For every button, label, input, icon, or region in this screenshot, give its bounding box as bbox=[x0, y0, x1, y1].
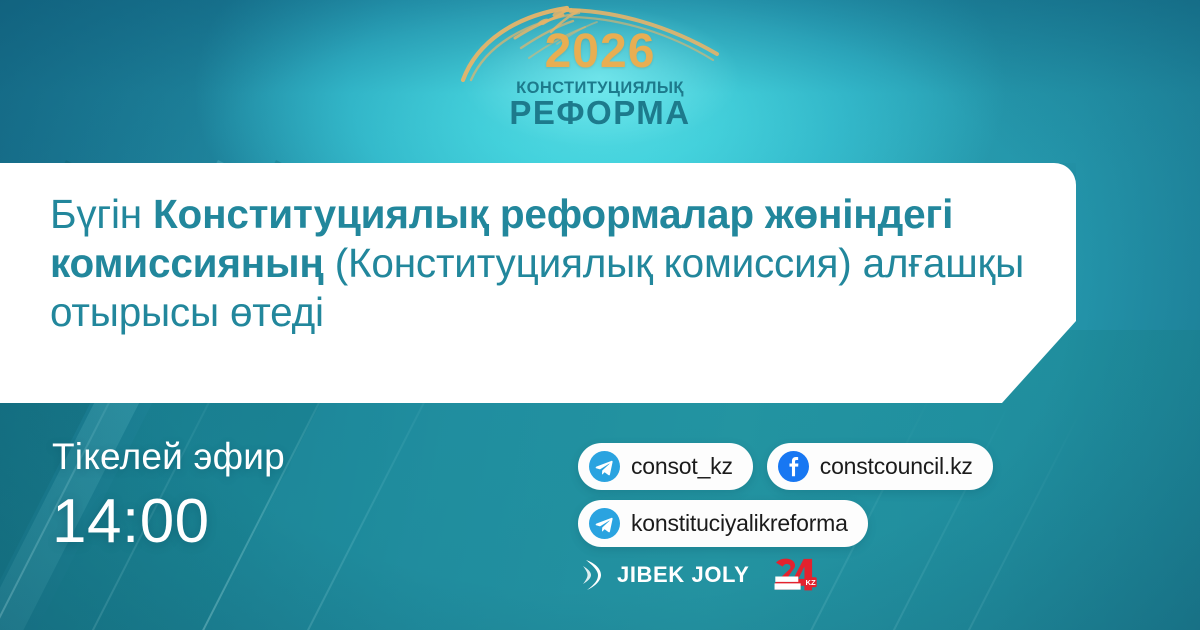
facebook-icon bbox=[778, 451, 809, 482]
telegram-icon bbox=[589, 451, 620, 482]
headline-card: Бүгін Конституциялық реформалар жөніндег… bbox=[0, 163, 1076, 403]
broadcaster-logos: JIBEK JOLY KZ bbox=[578, 557, 1178, 593]
logo-year: 2026 bbox=[455, 28, 745, 76]
svg-text:KZ: KZ bbox=[806, 578, 817, 587]
social-pill-telegram-consot[interactable]: consot_kz bbox=[578, 443, 753, 490]
constitutional-reform-logo: 2026 КОНСТИТУЦИЯЛЫҚ РЕФОРМА bbox=[455, 2, 745, 142]
headline-prefix: Бүгін bbox=[50, 191, 153, 237]
logo-subtitle-line2: РЕФОРМА bbox=[455, 95, 745, 131]
channel-label: JIBEK JOLY bbox=[617, 562, 749, 588]
social-row: konstituciyalikreforma bbox=[578, 500, 1178, 547]
live-label: Тікелей эфир bbox=[52, 438, 285, 475]
social-pill-label: konstituciyalikreforma bbox=[631, 511, 848, 535]
headline-card-inner: Бүгін Конституциялық реформалар жөніндег… bbox=[50, 190, 1050, 337]
social-row: consot_kz constcouncil.kz bbox=[578, 443, 1178, 490]
telegram-icon bbox=[589, 508, 620, 539]
page-title: Бүгін Конституциялық реформалар жөніндег… bbox=[50, 190, 1050, 337]
social-pill-facebook-constcouncil[interactable]: constcouncil.kz bbox=[767, 443, 993, 490]
live-broadcast-block: Тікелей эфир 14:00 bbox=[52, 438, 285, 553]
channel-logo-jibek-joly[interactable]: JIBEK JOLY bbox=[582, 558, 749, 592]
social-pill-telegram-konstituciyalikreforma[interactable]: konstituciyalikreforma bbox=[578, 500, 868, 547]
social-pill-label: consot_kz bbox=[631, 454, 733, 478]
live-time: 14:00 bbox=[52, 491, 285, 553]
jibek-joly-swoosh-icon bbox=[582, 558, 608, 592]
social-pill-label: constcouncil.kz bbox=[820, 454, 973, 478]
poster-canvas: 2026 КОНСТИТУЦИЯЛЫҚ РЕФОРМА Бүгін Консти… bbox=[0, 0, 1200, 630]
social-links: consot_kz constcouncil.kz konstituciyali… bbox=[578, 443, 1178, 593]
kz24-logo-icon[interactable]: KZ bbox=[773, 557, 819, 593]
